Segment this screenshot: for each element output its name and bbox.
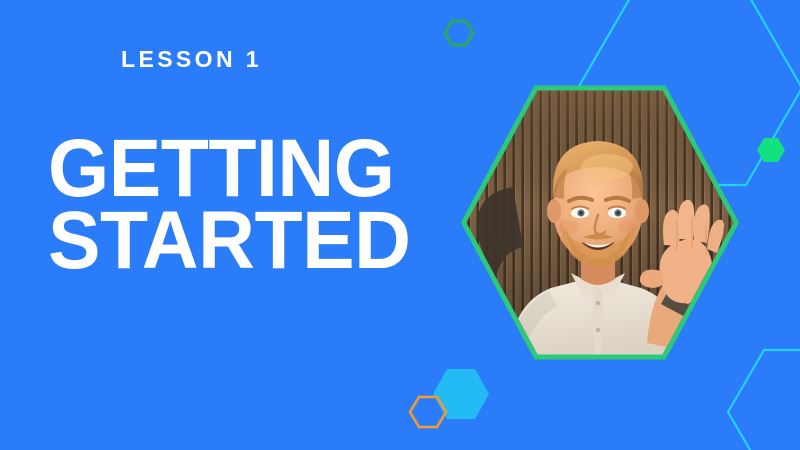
hex-outline-green-top-icon [445, 21, 473, 45]
hex-outline-cyan-bottom-right-icon [728, 350, 800, 450]
lesson-eyebrow-label: LESSON 1 [121, 48, 262, 71]
hex-solid-green-right-icon [757, 138, 785, 162]
photo-content [461, 85, 739, 360]
title-text-block: LESSON 1 GETTING STARTED [0, 0, 440, 450]
presenter-photo-frame [461, 85, 739, 360]
hex-solid-cyan-bottom-icon [433, 369, 489, 419]
lesson-title-slide: LESSON 1 GETTING STARTED [0, 0, 800, 450]
headline-line-2: STARTED [48, 205, 422, 277]
page-title: GETTING STARTED [48, 133, 422, 277]
presenter-photo-hexagon [461, 85, 739, 360]
